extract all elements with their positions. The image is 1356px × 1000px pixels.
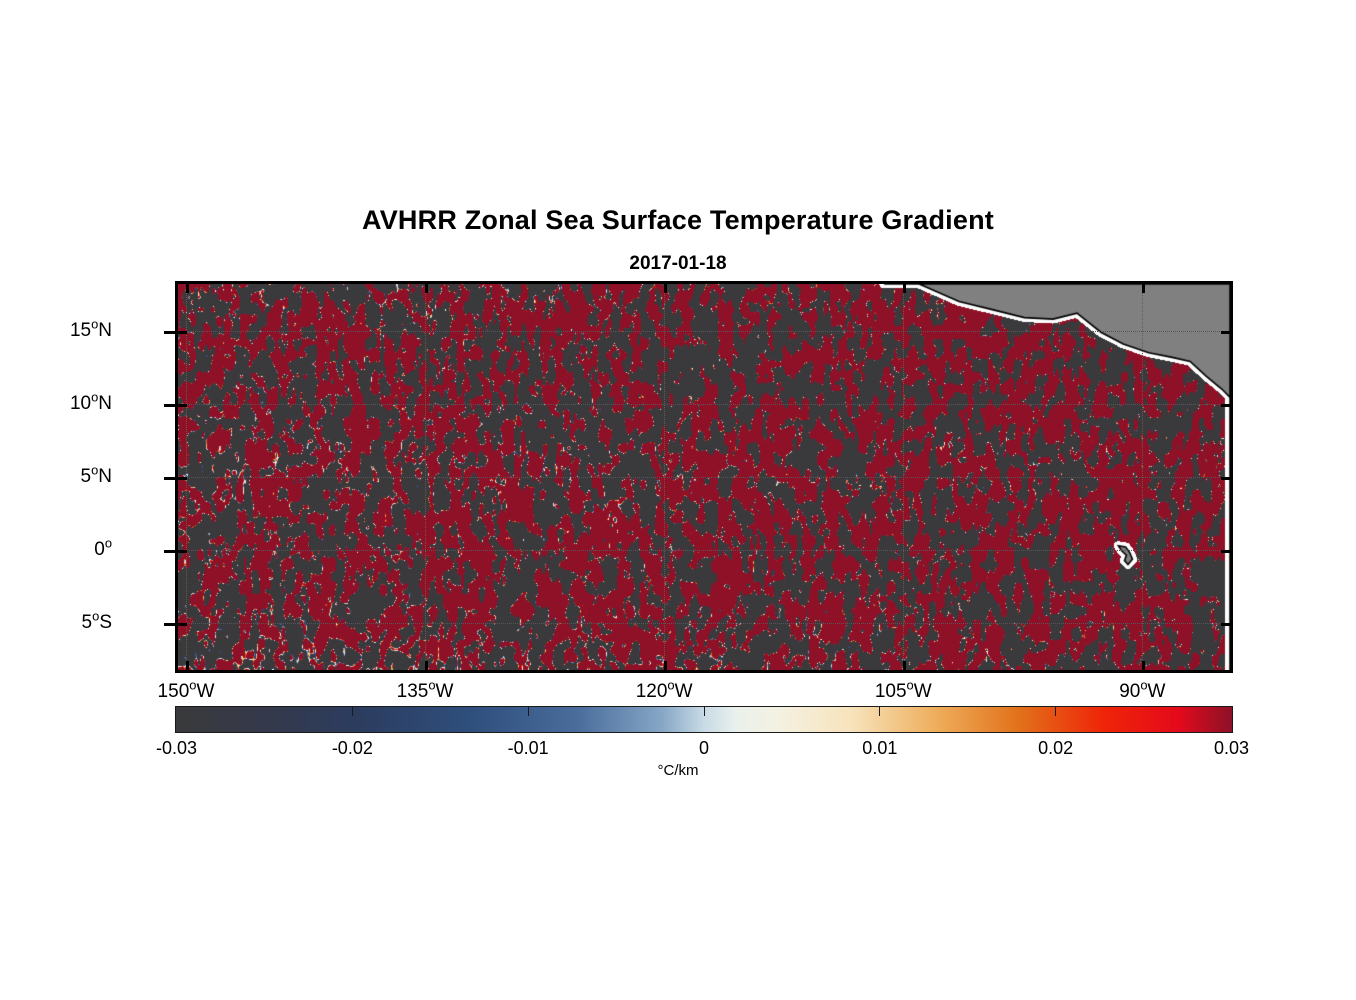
colorbar-unit-label: °C/km bbox=[0, 762, 1356, 779]
gridline-longitude bbox=[425, 284, 426, 670]
y-axis-tick bbox=[178, 331, 187, 334]
y-axis-tick bbox=[178, 477, 187, 480]
y-axis-tick bbox=[1221, 550, 1230, 553]
y-axis-tick-outer bbox=[164, 404, 175, 407]
colorbar-tick bbox=[352, 707, 353, 716]
y-axis-tick-outer bbox=[164, 477, 175, 480]
colorbar-tick bbox=[1055, 707, 1056, 716]
y-axis-tick-outer bbox=[164, 550, 175, 553]
gridline-latitude bbox=[178, 404, 1230, 405]
colorbar-tick-label: 0.03 bbox=[1214, 738, 1249, 759]
y-axis-tick bbox=[178, 623, 187, 626]
x-axis-tick bbox=[186, 284, 189, 293]
y-axis-tick-outer bbox=[164, 623, 175, 626]
x-axis-tick bbox=[425, 661, 428, 670]
gridline-latitude bbox=[178, 550, 1230, 551]
x-axis-label: 105oW bbox=[875, 681, 932, 703]
colorbar-tick bbox=[528, 707, 529, 716]
colorbar-tick-label: 0.02 bbox=[1038, 738, 1073, 759]
gridline-longitude bbox=[903, 284, 904, 670]
colorbar-tick-label: -0.03 bbox=[156, 738, 197, 759]
y-axis-tick bbox=[1221, 623, 1230, 626]
x-axis-label: 120oW bbox=[636, 681, 693, 703]
y-axis-tick bbox=[178, 404, 187, 407]
x-axis-tick bbox=[903, 284, 906, 293]
x-axis-tick bbox=[1142, 661, 1145, 670]
y-axis-label: 10oN bbox=[70, 393, 112, 415]
y-axis-tick-outer bbox=[164, 331, 175, 334]
page-title: AVHRR Zonal Sea Surface Temperature Grad… bbox=[0, 205, 1356, 236]
y-axis-tick bbox=[1221, 404, 1230, 407]
y-axis-tick bbox=[1221, 477, 1230, 480]
gridline-latitude bbox=[178, 623, 1230, 624]
figure-canvas: AVHRR Zonal Sea Surface Temperature Grad… bbox=[0, 0, 1356, 1000]
colorbar-tick bbox=[879, 707, 880, 716]
colorbar-tick-label: 0.01 bbox=[862, 738, 897, 759]
colorbar bbox=[175, 706, 1233, 733]
x-axis-label: 150oW bbox=[158, 681, 215, 703]
gridline-longitude bbox=[664, 284, 665, 670]
y-axis-label: 0o bbox=[94, 539, 112, 561]
y-axis-tick bbox=[1221, 331, 1230, 334]
colorbar-tick bbox=[704, 707, 705, 716]
gridline-latitude bbox=[178, 331, 1230, 332]
y-axis-tick bbox=[178, 550, 187, 553]
y-axis-label: 15oN bbox=[70, 320, 112, 342]
x-axis-tick bbox=[664, 661, 667, 670]
y-axis-label: 5oS bbox=[82, 612, 112, 634]
gridline-latitude bbox=[178, 477, 1230, 478]
x-axis-tick bbox=[903, 661, 906, 670]
x-axis-tick bbox=[425, 284, 428, 293]
x-axis-label: 135oW bbox=[397, 681, 454, 703]
x-axis-tick bbox=[1142, 284, 1145, 293]
x-axis-label: 90oW bbox=[1119, 681, 1165, 703]
colorbar-tick-label: -0.02 bbox=[332, 738, 373, 759]
x-axis-tick bbox=[186, 661, 189, 670]
map-axes bbox=[175, 281, 1233, 673]
gridline-longitude bbox=[1142, 284, 1143, 670]
y-axis-label: 5oN bbox=[81, 466, 113, 488]
colorbar-tick-label: -0.01 bbox=[508, 738, 549, 759]
x-axis-tick bbox=[664, 284, 667, 293]
figure-subtitle: 2017-01-18 bbox=[0, 253, 1356, 275]
colorbar-tick-label: 0 bbox=[699, 738, 709, 759]
